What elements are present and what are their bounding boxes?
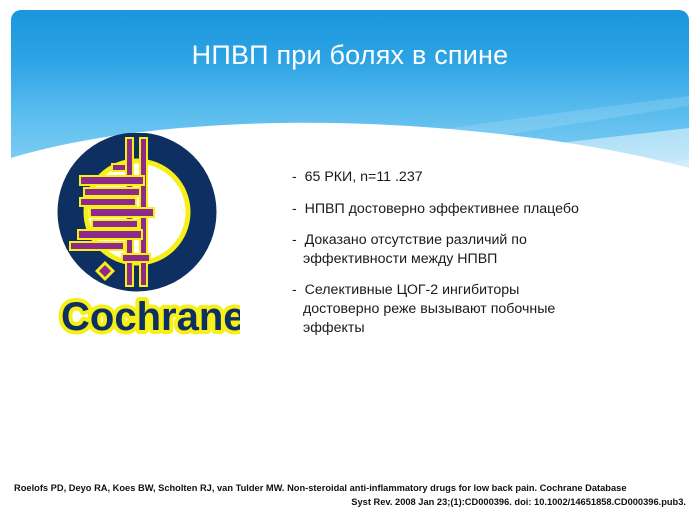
citation-line-2: Syst Rev. 2008 Jan 23;(1):CD000396. doi:…: [14, 496, 686, 510]
bullet-item-2: - НПВП достоверно эффективнее плацебо: [292, 200, 644, 219]
cochrane-wordmark: Cochrane Cochrane: [61, 295, 240, 339]
bullet-item-3: - Доказано отсутствие различий по эффект…: [292, 231, 644, 268]
bullet-item-1: - 65 РКИ, n=11 .237: [292, 168, 644, 187]
citation-footer: Roelofs PD, Deyo RA, Koes BW, Scholten R…: [14, 482, 686, 509]
bullet-list: - 65 РКИ, n=11 .237 - НПВП достоверно эф…: [292, 168, 644, 337]
cochrane-logo: Cochrane Cochrane: [55, 133, 240, 348]
bullet-item-4: - Селективные ЦОГ-2 ингибиторы достоверн…: [292, 281, 644, 337]
citation-line-1: Roelofs PD, Deyo RA, Koes BW, Scholten R…: [14, 482, 686, 496]
slide: НПВП при болях в спине: [0, 0, 700, 520]
cochrane-logo-mark: [65, 137, 209, 287]
page-title: НПВП при болях в спине: [11, 41, 689, 71]
svg-text:Cochrane: Cochrane: [61, 295, 240, 339]
